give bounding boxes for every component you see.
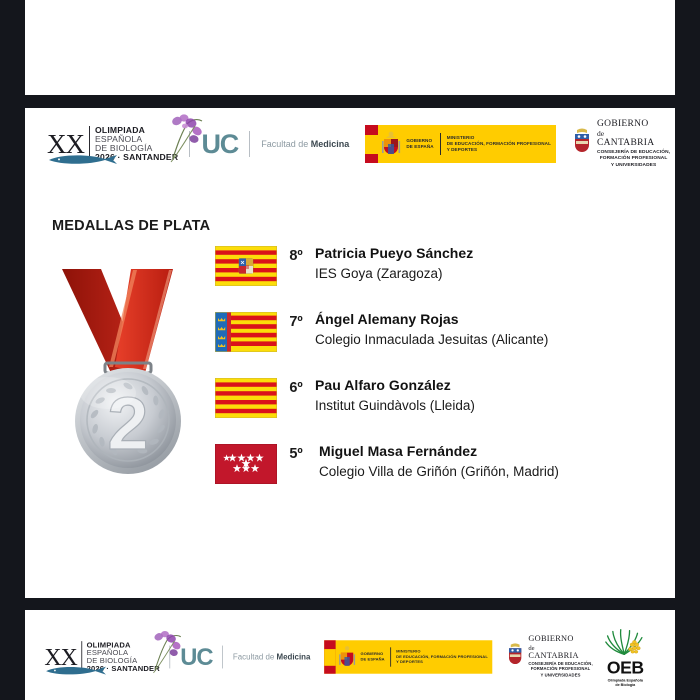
slide-current[interactable]: XX OLIMPIADA ESPAÑOLA DE BIOLOGÍA 2026 ·… xyxy=(25,108,675,598)
spain-text-divider xyxy=(440,133,441,155)
spain-coat-of-arms-icon xyxy=(336,640,359,673)
oeb-letters: OEB xyxy=(605,659,645,677)
oeb-sub-2: de Biología xyxy=(605,683,645,688)
flag-cell xyxy=(215,438,277,484)
winner-rank: 6º xyxy=(277,372,315,396)
winner-info: Ángel Alemany Rojas Colegio Inmaculada J… xyxy=(315,306,548,350)
cantabria-region: CANTABRIA xyxy=(597,138,670,148)
winner-info: Pau Alfaro González Institut Guindàvols … xyxy=(315,372,475,416)
gobierno-espana-lines: GOBIERNO DE ESPAÑA xyxy=(406,138,433,150)
cantabria-region: CANTABRIA xyxy=(528,652,592,661)
flag-cell xyxy=(215,306,277,352)
olympiad-logo-next: XX OLIMPIADA ESPAÑOLA DE BIOLOGÍA 2026 ·… xyxy=(44,641,160,673)
flag-madrid-icon xyxy=(215,444,277,484)
gobierno-espana-text: GOBIERNO DE ESPAÑA MINISTERIO DE EDUCACI… xyxy=(404,125,556,163)
gobierno-espana-lines: GOBIERNO DE ESPAÑA xyxy=(361,652,385,663)
oeb-subtitle: Olimpiada Española de Biología xyxy=(605,678,645,687)
spain-text-divider xyxy=(390,647,391,666)
winner-row[interactable]: 6º Pau Alfaro González Institut Guindàvo… xyxy=(215,372,663,438)
cantabria-gobierno: GOBIERNO xyxy=(528,635,592,644)
cantabria-sub-3: Y UNIVERSIDADES xyxy=(528,673,592,678)
winner-info: Patricia Pueyo Sánchez IES Goya (Zaragoz… xyxy=(315,240,473,284)
ministerio-line-3: Y DEPORTES xyxy=(447,147,551,153)
flag-cell xyxy=(215,372,277,418)
fish-icon xyxy=(44,666,128,676)
faculty-name: Medicina xyxy=(311,139,350,149)
slide-next[interactable]: XX OLIMPIADA ESPAÑOLA DE BIOLOGÍA 2026 ·… xyxy=(25,610,675,700)
winner-rank: 5º xyxy=(277,438,315,462)
flag-aragon-icon xyxy=(215,246,277,286)
cantabria-coat-of-arms-icon xyxy=(506,642,524,667)
flag-catalonia-icon xyxy=(215,378,277,418)
flag-valencia-icon xyxy=(215,312,277,352)
ministerio-line-3: Y DEPORTES xyxy=(396,660,488,665)
olympiad-logo: XX OLIMPIADA ESPAÑOLA DE BIOLOGÍA 2026 ·… xyxy=(47,126,178,163)
cantabria-department: CONSEJERÍA DE EDUCACIÓN, FORMACIÓN PROFE… xyxy=(528,662,592,678)
winner-row[interactable]: 5º Miguel Masa Fernández Colegio Villa d… xyxy=(215,438,663,504)
winner-rank: 8º xyxy=(277,240,315,264)
winner-info: Miguel Masa Fernández Colegio Villa de G… xyxy=(315,438,559,482)
oeb-logo: OEB Olimpiada Española de Biología xyxy=(605,627,645,687)
winner-name: Pau Alfaro González xyxy=(315,375,475,396)
winners-list: 8º Patricia Pueyo Sánchez IES Goya (Zara… xyxy=(215,240,663,504)
cantabria-de: de xyxy=(597,130,670,138)
winner-name: Ángel Alemany Rojas xyxy=(315,309,548,330)
slide-previous[interactable] xyxy=(25,0,675,95)
faculty-label: Facultad de Medicina xyxy=(233,653,310,662)
cantabria-sub-2: FORMACIÓN PROFESIONAL xyxy=(528,668,592,673)
spain-flag-strip xyxy=(365,125,378,163)
winner-school: IES Goya (Zaragoza) xyxy=(315,264,473,284)
cantabria-department: CONSEJERÍA DE EDUCACIÓN, FORMACIÓN PROFE… xyxy=(597,150,670,169)
faculty-label: Facultad de Medicina xyxy=(261,139,349,149)
ministerio-lines: MINISTERIO DE EDUCACIÓN, FORMACIÓN PROFE… xyxy=(447,135,551,154)
palm-pinecone-icon xyxy=(605,627,645,657)
winner-row[interactable]: 8º Patricia Pueyo Sánchez IES Goya (Zara… xyxy=(215,240,663,306)
orchid-flower-icon xyxy=(165,112,211,164)
gobierno-espana-text: GOBIERNO DE ESPAÑA MINISTERIO DE EDUCACI… xyxy=(359,640,492,673)
gobierno-line-2: DE ESPAÑA xyxy=(406,144,433,150)
faculty-prefix: Facultad de xyxy=(261,139,311,149)
cantabria-de: de xyxy=(528,644,592,651)
logo-divider-2 xyxy=(249,131,250,157)
faculty-prefix: Facultad de xyxy=(233,653,277,662)
winner-school: Colegio Villa de Griñón (Griñón, Madrid) xyxy=(319,462,559,482)
cantabria-wordmark: GOBIERNO de CANTABRIA xyxy=(528,635,592,661)
sponsor-logo-bar-next: XX OLIMPIADA ESPAÑOLA DE BIOLOGÍA 2026 ·… xyxy=(25,630,597,685)
fish-icon xyxy=(47,154,143,165)
logo-divider-2 xyxy=(222,646,223,669)
section-title: MEDALLAS DE PLATA xyxy=(52,218,210,234)
gobierno-cantabria-logo: GOBIERNO de CANTABRIA CONSEJERÍA DE EDUC… xyxy=(506,635,592,679)
gobierno-espana-logo: GOBIERNO DE ESPAÑA MINISTERIO DE EDUCACI… xyxy=(365,125,556,163)
winner-name: Patricia Pueyo Sánchez xyxy=(315,243,473,264)
winner-school: Institut Guindàvols (Lleida) xyxy=(315,396,475,416)
cantabria-gobierno: GOBIERNO xyxy=(597,119,670,129)
gobierno-line-2: DE ESPAÑA xyxy=(361,657,385,662)
winner-name: Miguel Masa Fernández xyxy=(319,441,559,462)
winner-school: Colegio Inmaculada Jesuitas (Alicante) xyxy=(315,330,548,350)
slide-viewer[interactable]: XX OLIMPIADA ESPAÑOLA DE BIOLOGÍA 2026 ·… xyxy=(0,0,700,700)
cantabria-sub-3: Y UNIVERSIDADES xyxy=(597,163,670,169)
ministerio-lines: MINISTERIO DE EDUCACIÓN, FORMACIÓN PROFE… xyxy=(396,649,488,665)
spain-flag-strip xyxy=(324,640,335,673)
sponsor-logo-bar: XX OLIMPIADA ESPAÑOLA DE BIOLOGÍA 2026 ·… xyxy=(25,108,675,180)
cantabria-coat-of-arms-icon xyxy=(572,127,592,155)
flag-cell xyxy=(215,240,277,286)
winner-rank: 7º xyxy=(277,306,315,330)
cantabria-wordmark: GOBIERNO de CANTABRIA xyxy=(597,119,670,148)
faculty-name: Medicina xyxy=(277,653,311,662)
orchid-flower-icon xyxy=(148,629,188,675)
winner-row[interactable]: 7º Ángel Alemany Rojas Colegio Inmaculad… xyxy=(215,306,663,372)
cantabria-sub-2: FORMACIÓN PROFESIONAL xyxy=(597,156,670,162)
spain-coat-of-arms-icon xyxy=(378,125,404,163)
silver-medal-icon: 2 xyxy=(45,263,210,478)
gobierno-cantabria-logo: GOBIERNO de CANTABRIA CONSEJERÍA DE EDUC… xyxy=(572,119,670,169)
gobierno-espana-logo: GOBIERNO DE ESPAÑA MINISTERIO DE EDUCACI… xyxy=(324,640,492,673)
